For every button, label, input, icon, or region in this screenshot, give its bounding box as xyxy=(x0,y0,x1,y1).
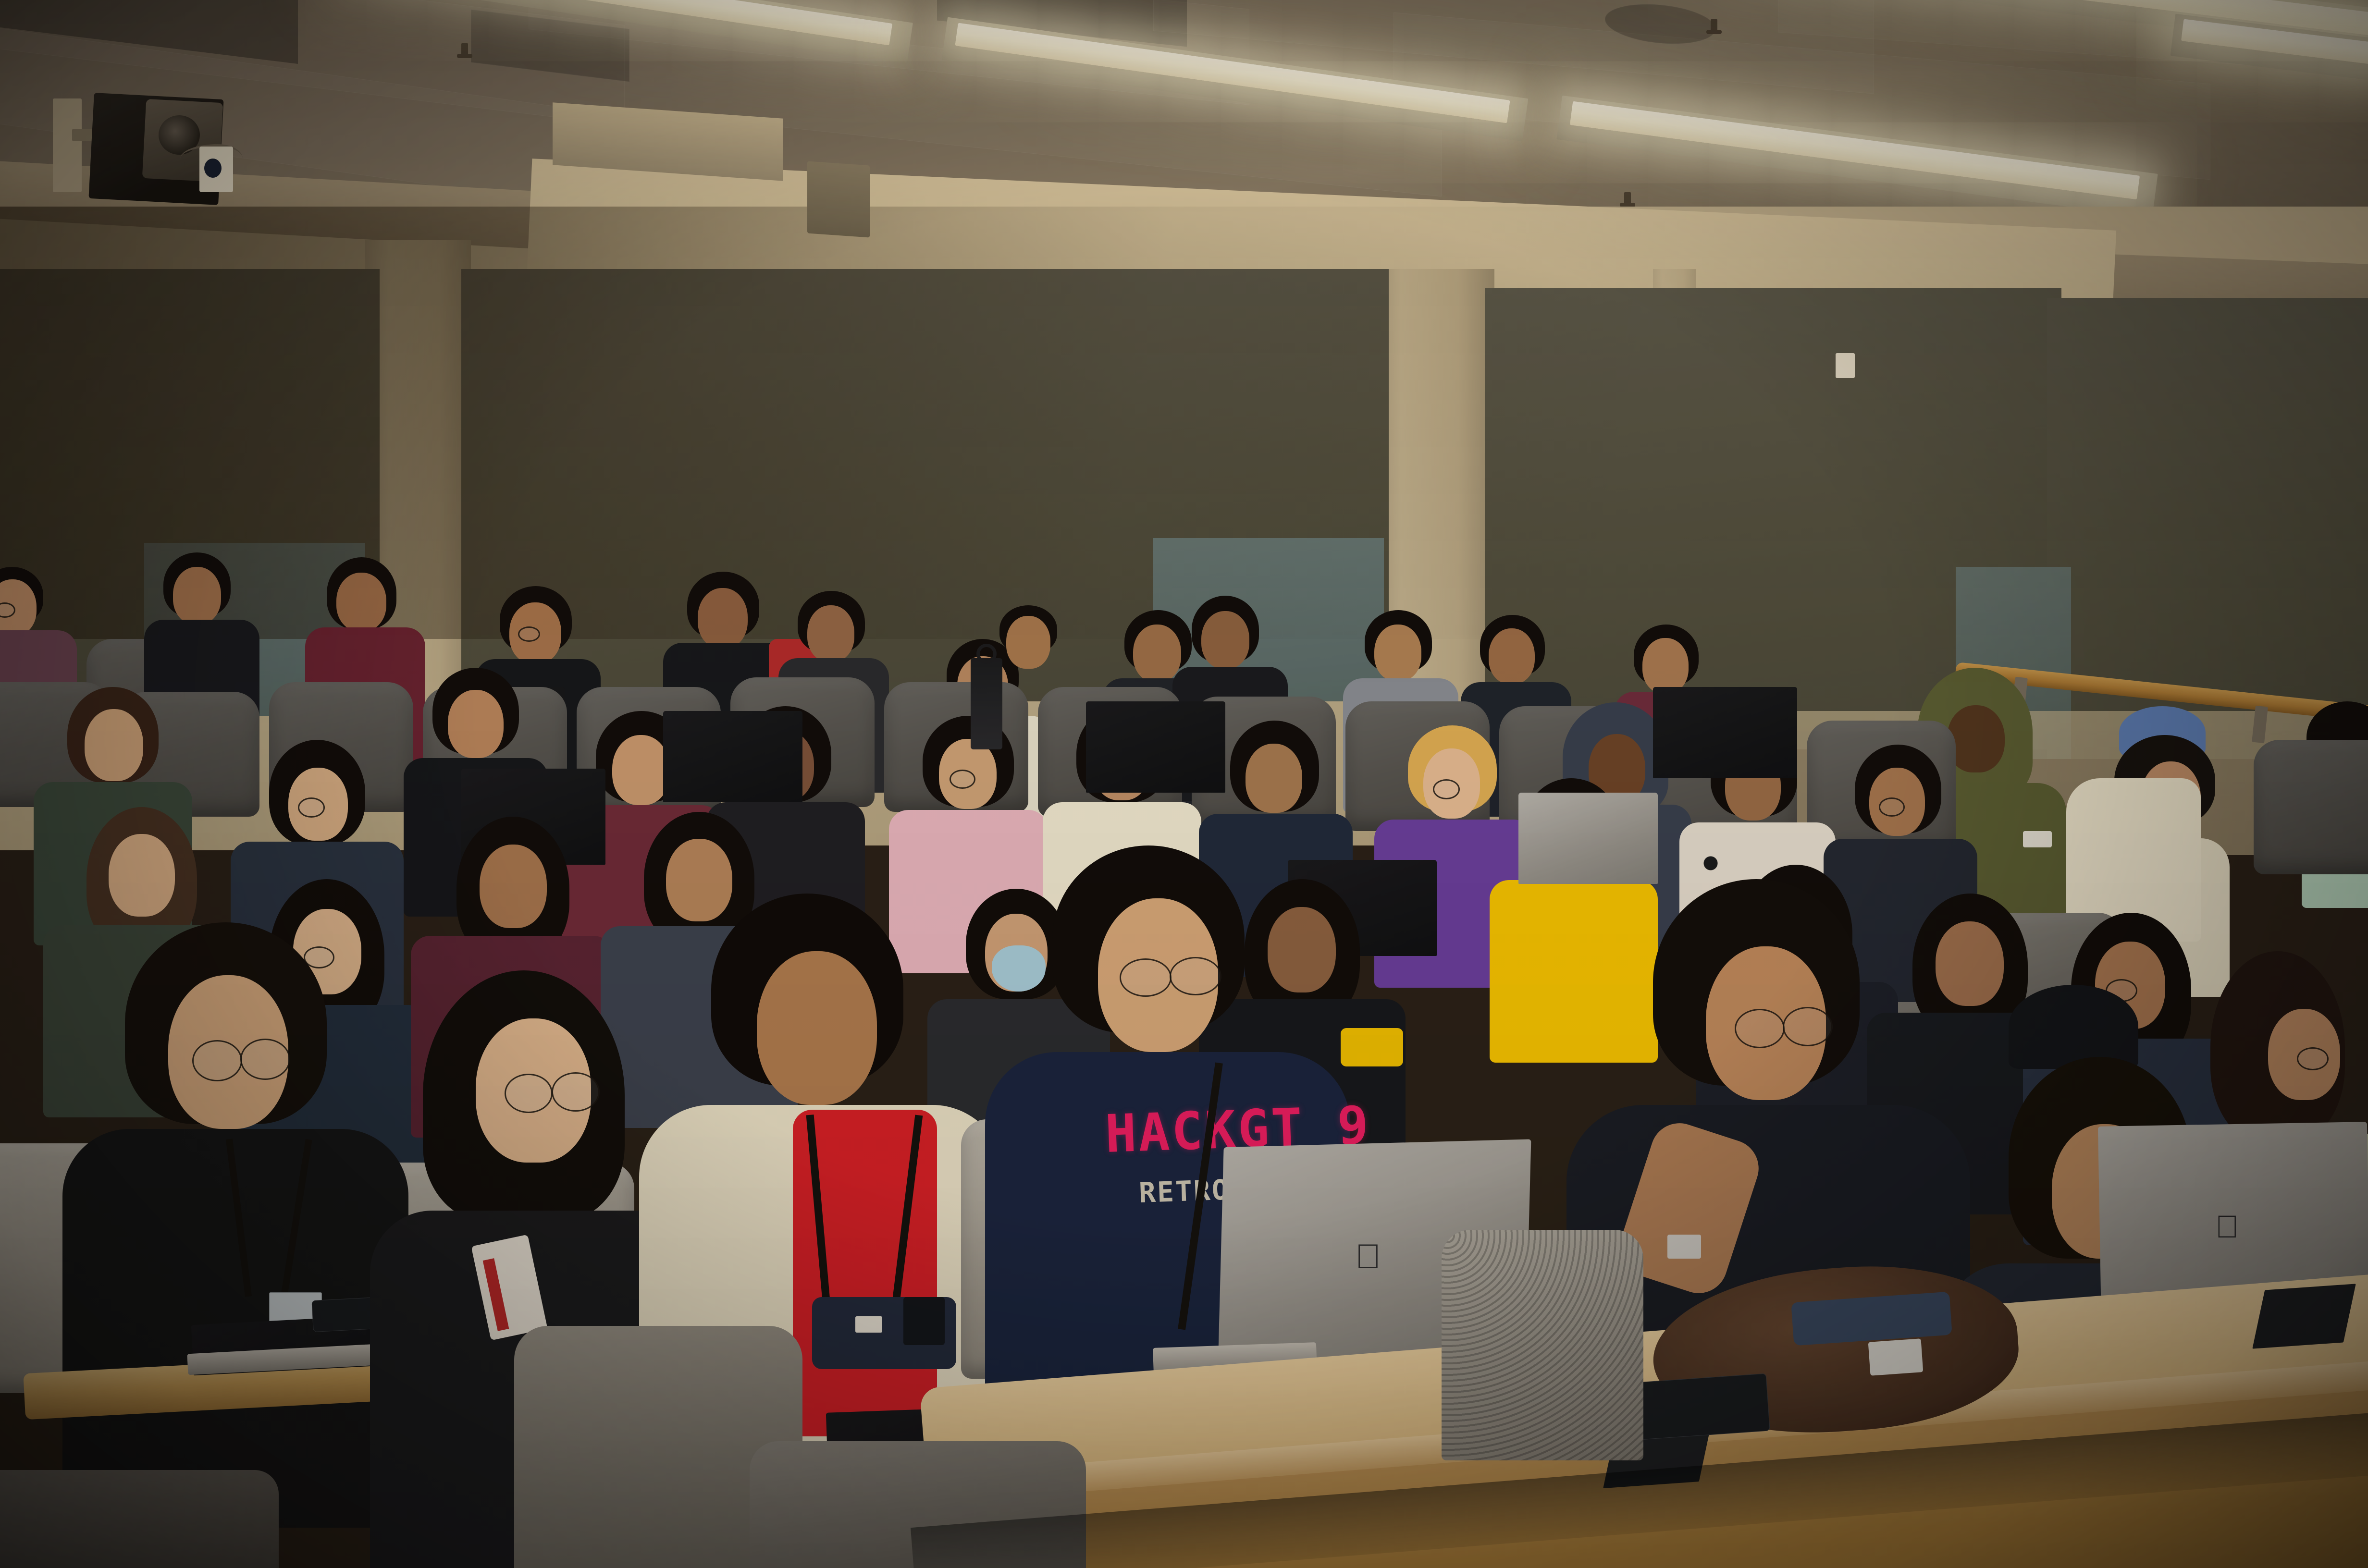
baseball-cap xyxy=(2009,985,2138,1069)
yellow-logo xyxy=(1341,1028,1403,1066)
seat[interactable] xyxy=(2254,740,2368,874)
sprinkler-icon xyxy=(1624,192,1631,207)
quiksilver-logo-icon xyxy=(1667,1235,1701,1259)
ceiling-speaker xyxy=(807,161,870,237)
brand-tag xyxy=(855,1316,882,1333)
nike-logo-icon xyxy=(2023,831,2052,847)
laptop[interactable] xyxy=(1086,701,1225,793)
jacket-label xyxy=(1868,1338,1924,1376)
water-bottle[interactable] xyxy=(971,658,1002,749)
bottle-handle xyxy=(976,644,997,664)
wall-thermostat xyxy=(1836,353,1855,378)
face-mask xyxy=(992,945,1046,992)
apple-logo-icon:  xyxy=(2215,1211,2239,1242)
sprinkler-icon xyxy=(461,43,468,58)
apple-logo-icon:  xyxy=(1355,1239,1381,1274)
lecture-hall-photo: HACKGT 9 RETRO REBOOT   xyxy=(0,0,2368,1568)
seat[interactable] xyxy=(0,1470,279,1568)
projector-mount-plate xyxy=(53,98,82,192)
macbook[interactable] xyxy=(1518,793,1658,884)
device-stand[interactable] xyxy=(2252,1284,2356,1348)
laptop[interactable] xyxy=(663,711,802,802)
sprinkler-icon xyxy=(1711,19,1717,34)
smartwatch[interactable] xyxy=(903,1297,945,1345)
scene-caption: University lecture hall filled with stud… xyxy=(0,1563,2368,1568)
outlet-plug xyxy=(204,159,222,178)
mesh-seat-back[interactable] xyxy=(1442,1230,1643,1460)
laptop[interactable] xyxy=(1653,687,1797,778)
